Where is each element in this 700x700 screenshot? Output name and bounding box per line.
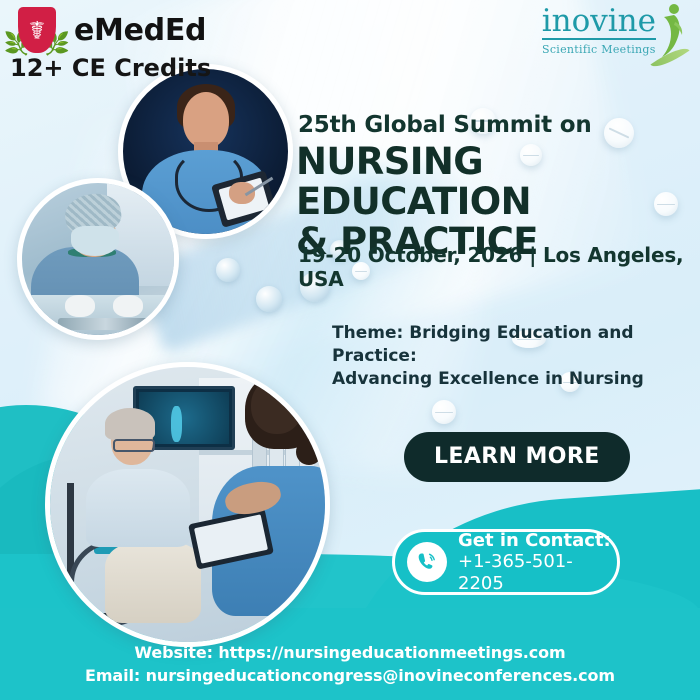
caduceus-icon: ☤	[29, 18, 46, 43]
conference-poster: 🌿 🌿 ☤ eMedEd 12+ CE Credits inovine Scie…	[0, 0, 700, 700]
organizer-tagline: Scientific Meetings	[542, 43, 656, 56]
capsule-icon	[256, 286, 282, 312]
phone-glyph	[415, 550, 439, 574]
event-theme-line2: Advancing Excellence in Nursing	[332, 368, 682, 391]
footer-contact-info: Website: https://nursingeducationmeeting…	[0, 641, 700, 687]
footer-email[interactable]: Email: nursingeducationcongress@inovinec…	[0, 664, 700, 687]
learn-more-button[interactable]: LEARN MORE	[404, 432, 630, 482]
pill-icon	[432, 400, 456, 424]
organizer-name: inovine	[542, 6, 656, 40]
accreditation-badge: 🌿 🌿 ☤ eMedEd 12+ CE Credits	[6, 4, 236, 84]
phone-call-icon	[407, 542, 447, 582]
contact-label: Get in Contact:	[458, 530, 617, 551]
contact-badge[interactable]: Get in Contact: +1-365-501-2205	[392, 529, 620, 595]
organizer-logo[interactable]: inovine Scientific Meetings	[542, 6, 682, 57]
event-date-venue: 19-20 October, 2026 | Los Angeles, USA	[298, 243, 700, 291]
contact-phone-number[interactable]: +1-365-501-2205	[458, 551, 617, 593]
medical-shield-caduceus-icon: 🌿 🌿 ☤	[6, 4, 68, 56]
emeded-brand-name: eMedEd	[74, 13, 206, 48]
event-kicker: 25th Global Summit on	[298, 112, 592, 138]
event-theme: Theme: Bridging Education and Practice: …	[332, 322, 682, 391]
nurse-patient-consultation-photo	[45, 362, 330, 647]
running-person-icon	[654, 2, 684, 58]
event-title-line1: NURSING EDUCATION	[296, 142, 696, 222]
ce-credits-label: 12+ CE Credits	[10, 54, 236, 82]
footer-website[interactable]: Website: https://nursingeducationmeeting…	[0, 641, 700, 664]
event-theme-line1: Theme: Bridging Education and Practice:	[332, 322, 682, 368]
capsule-icon	[216, 258, 240, 282]
surgical-nurse-photo	[17, 178, 179, 340]
